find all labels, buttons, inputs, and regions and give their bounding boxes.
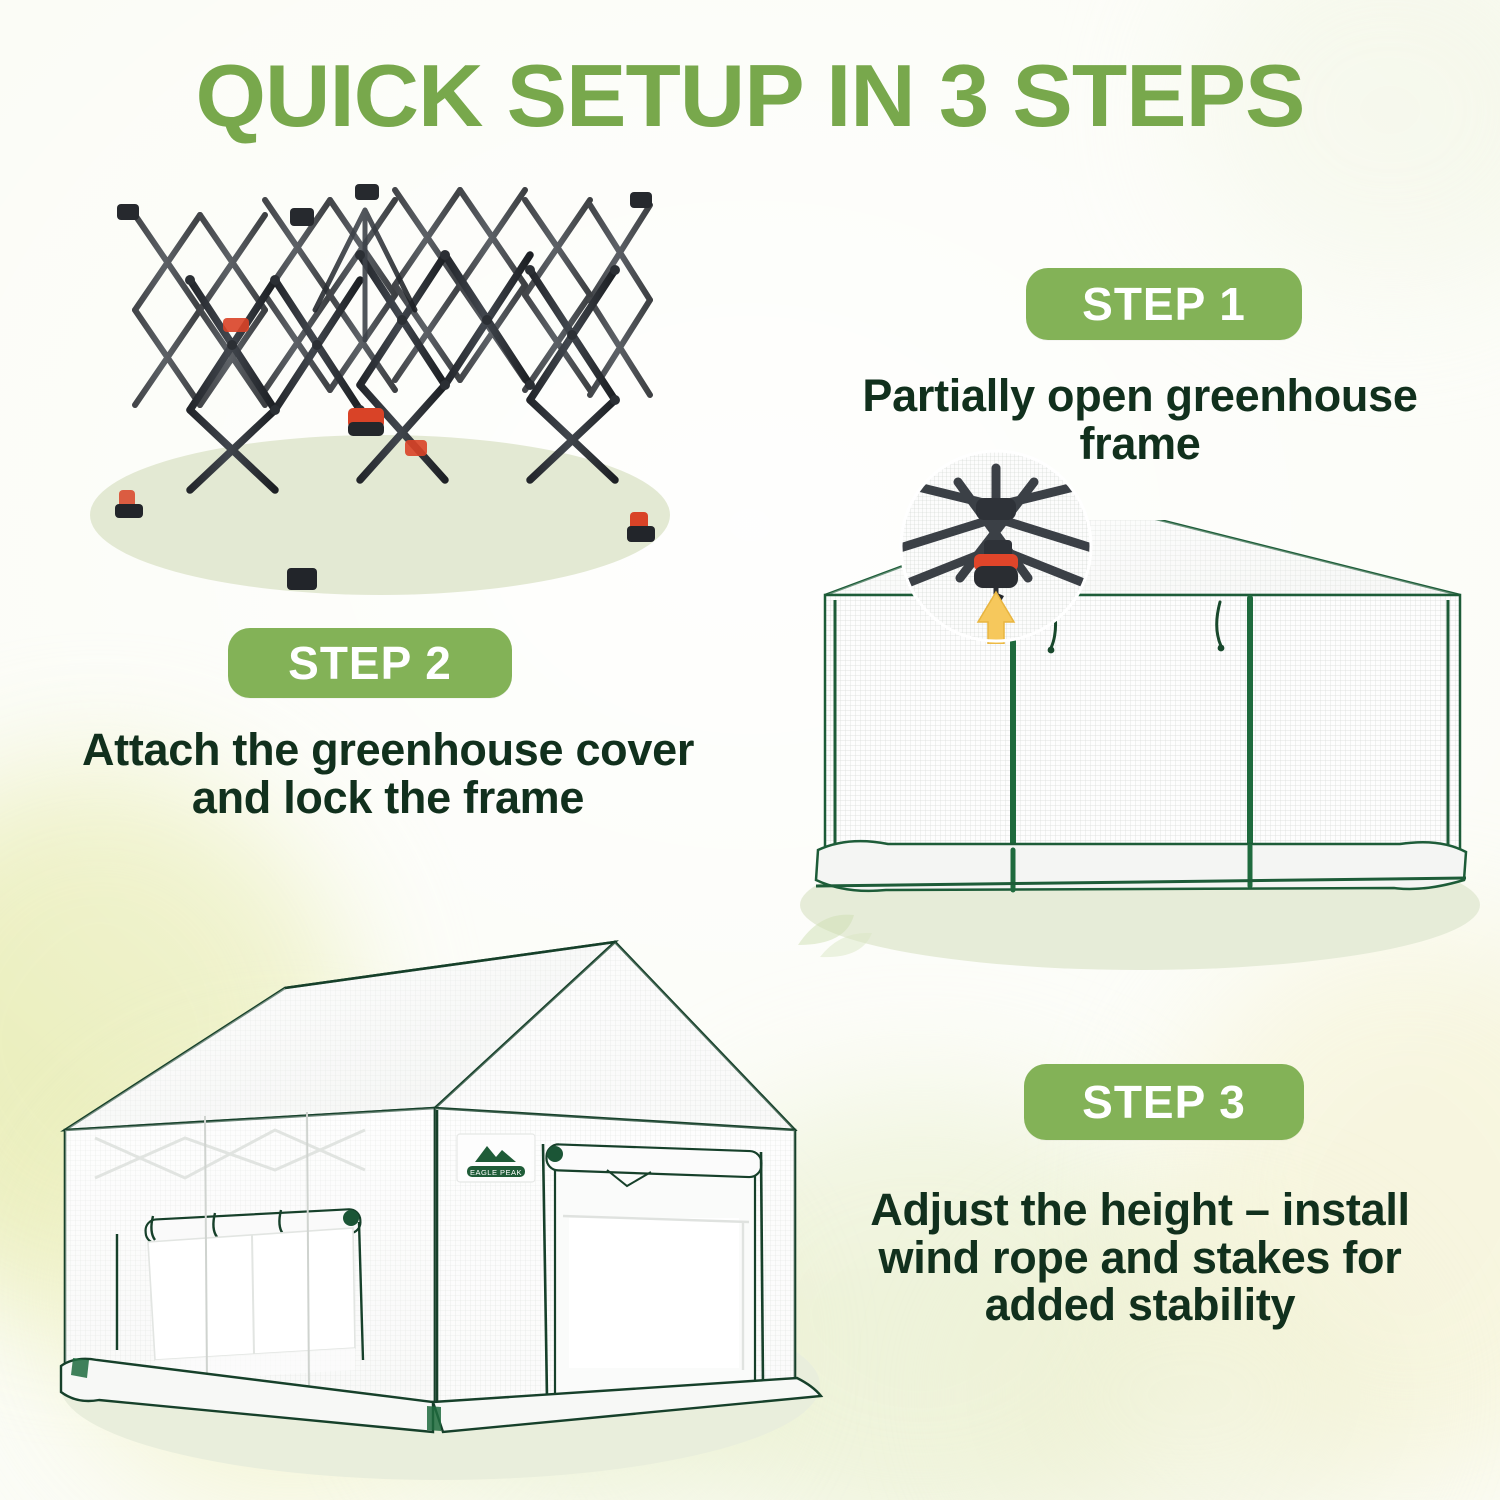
rolled-window	[115, 1209, 363, 1382]
hub-detail-callout	[898, 448, 1094, 644]
svg-text:EAGLE PEAK: EAGLE PEAK	[470, 1168, 522, 1177]
door-opening	[546, 1144, 762, 1398]
step-3-caption-line-3: added stability	[800, 1281, 1480, 1329]
step-3-caption-line-1: Adjust the height – install	[800, 1186, 1480, 1234]
illustration-greenhouse-assembled: EAGLE PEAK	[55, 930, 845, 1450]
step-3-badge[interactable]: STEP 3	[1024, 1064, 1304, 1140]
step-2-caption-line-1: Attach the greenhouse cover	[18, 726, 758, 774]
step-2-badge[interactable]: STEP 2	[228, 628, 512, 698]
step-3-caption: Adjust the height – install wind rope an…	[800, 1186, 1480, 1329]
step-2-caption-line-2: and lock the frame	[18, 774, 758, 822]
step-3-caption-line-2: wind rope and stakes for	[800, 1234, 1480, 1282]
infographic-canvas: QUICK SETUP IN 3 STEPS	[0, 0, 1500, 1500]
step-2-caption: Attach the greenhouse cover and lock the…	[18, 726, 758, 821]
brand-label: EAGLE PEAK	[457, 1134, 535, 1182]
step-1-caption-line-1: Partially open greenhouse	[800, 372, 1480, 420]
illustration-folding-frame	[75, 160, 695, 600]
step-1-badge[interactable]: STEP 1	[1026, 268, 1302, 340]
page-title: QUICK SETUP IN 3 STEPS	[0, 52, 1500, 140]
leaf-decoration	[790, 905, 880, 965]
step-1-caption-line-2: frame	[800, 420, 1480, 468]
step-1-caption: Partially open greenhouse frame	[800, 372, 1480, 467]
